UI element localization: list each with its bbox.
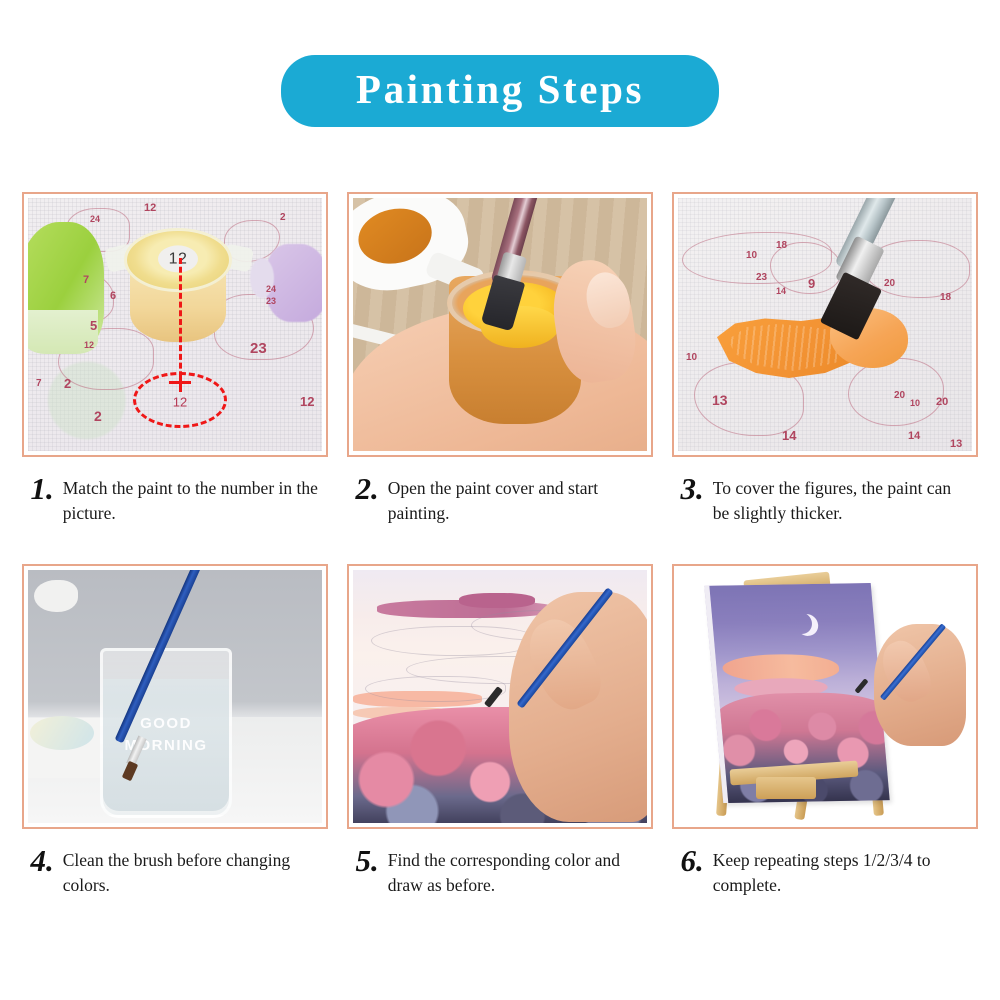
step-4-caption: 4. Clean the brush before changing color… [31,843,321,899]
soap-bar [30,716,94,750]
step-number: 4. [31,843,54,876]
step-description: Find the corresponding color and draw as… [388,843,646,899]
canvas-number: 13 [950,438,962,450]
canvas-number: 12 [300,394,314,409]
canvas-number: 20 [884,278,895,289]
step-card-3: 10 18 23 14 9 20 18 10 20 13 14 20 10 20… [663,182,988,554]
hand-painting-cherry-blossom-canvas-photo [353,570,647,823]
canvas-number: 23 [756,272,767,283]
painting-steps-grid: 12 24 2 7 6 24 23 5 12 23 2 7 2 12 [0,182,1000,926]
paint-pot-on-numbered-canvas-photo: 12 24 2 7 6 24 23 5 12 23 2 7 2 12 [28,198,322,451]
step-number: 1. [31,471,54,504]
step-1-image-frame: 12 24 2 7 6 24 23 5 12 23 2 7 2 12 [22,192,328,457]
step-card-2: 2. Open the paint cover and start painti… [338,182,663,554]
step-1-caption: 1. Match the paint to the number in the … [31,471,321,527]
step-card-1: 12 24 2 7 6 24 23 5 12 23 2 7 2 12 [13,182,338,554]
canvas-number: 2 [94,408,102,424]
canvas-number: 10 [910,398,920,408]
canvas-number: 13 [712,392,728,408]
step-number: 5. [356,843,379,876]
canvas-number: 20 [894,390,905,401]
title-banner: Painting Steps [281,55,719,127]
canvas-number: 24 [90,214,100,224]
canvas-number: 12 [84,340,94,350]
step-3-caption: 3. To cover the figures, the paint can b… [681,471,971,527]
easel-tray-block [756,777,816,799]
red-dashed-target-ellipse: 12 [133,372,227,428]
canvas-number: 23 [250,340,267,357]
step-card-4: GOOD MORNING 4. Clean the brush before c… [13,554,338,926]
canvas-number: 10 [746,250,757,261]
unpainted-region-outline [365,676,506,701]
hand-holding-open-paint-pot-photo [353,198,647,451]
canvas-number: 6 [110,290,116,302]
canvas-number: 24 [266,284,276,294]
canvas-number: 7 [83,274,89,286]
step-description: Open the paint cover and start painting. [388,471,646,527]
pot-number-sticker: 12 [158,245,198,272]
canvas-number: 14 [776,286,786,296]
step-2-caption: 2. Open the paint cover and start painti… [356,471,646,527]
canvas-number: 2 [280,212,286,223]
magenta-cloud-stroke [459,593,535,608]
canvas-number: 7 [36,378,42,389]
step-number: 2. [356,471,379,504]
lid-paint-residue [353,202,437,270]
step-description: Keep repeating steps 1/2/3/4 to complete… [713,843,971,899]
step-3-image-frame: 10 18 23 14 9 20 18 10 20 13 14 20 10 20… [672,192,978,457]
step-6-caption: 6. Keep repeating steps 1/2/3/4 to compl… [681,843,971,899]
canvas-number: 12 [144,202,156,214]
step-card-5: 5. Find the corresponding color and draw… [338,554,663,926]
step-number: 3. [681,471,704,504]
step-description: Clean the brush before changing colors. [63,843,321,899]
page-title: Painting Steps [356,69,644,110]
brush-applying-orange-paint-photo: 10 18 23 14 9 20 18 10 20 13 14 20 10 20… [678,198,972,451]
step-5-caption: 5. Find the corresponding color and draw… [356,843,646,899]
step-number: 6. [681,843,704,876]
header: Painting Steps [0,0,1000,182]
canvas-number: 23 [266,296,276,306]
finished-painting-on-easel-photo [678,570,972,823]
canvas-number: 9 [808,276,815,291]
canvas-number: 10 [686,352,697,363]
canvas-number: 18 [776,240,787,251]
canvas-number: 14 [782,428,796,443]
step-5-image-frame [347,564,653,829]
pot-lid: 12 [124,228,232,292]
purple-paint-pot [266,244,322,322]
red-dashed-guide-line [179,258,182,386]
canvas-number: 2 [64,376,71,391]
target-number-label: 12 [173,395,187,410]
step-4-image-frame: GOOD MORNING [22,564,328,829]
canvas-number: 5 [90,318,97,333]
brush-in-water-glass-photo: GOOD MORNING [28,570,322,823]
step-description: To cover the figures, the paint can be s… [713,471,971,527]
step-description: Match the paint to the number in the pic… [63,471,321,527]
background-object [34,580,78,612]
canvas-number: 14 [908,430,920,442]
canvas-number: 20 [936,396,948,408]
step-card-6: 6. Keep repeating steps 1/2/3/4 to compl… [663,554,988,926]
step-6-image-frame [672,564,978,829]
step-2-image-frame [347,192,653,457]
canvas-number: 18 [940,292,951,303]
